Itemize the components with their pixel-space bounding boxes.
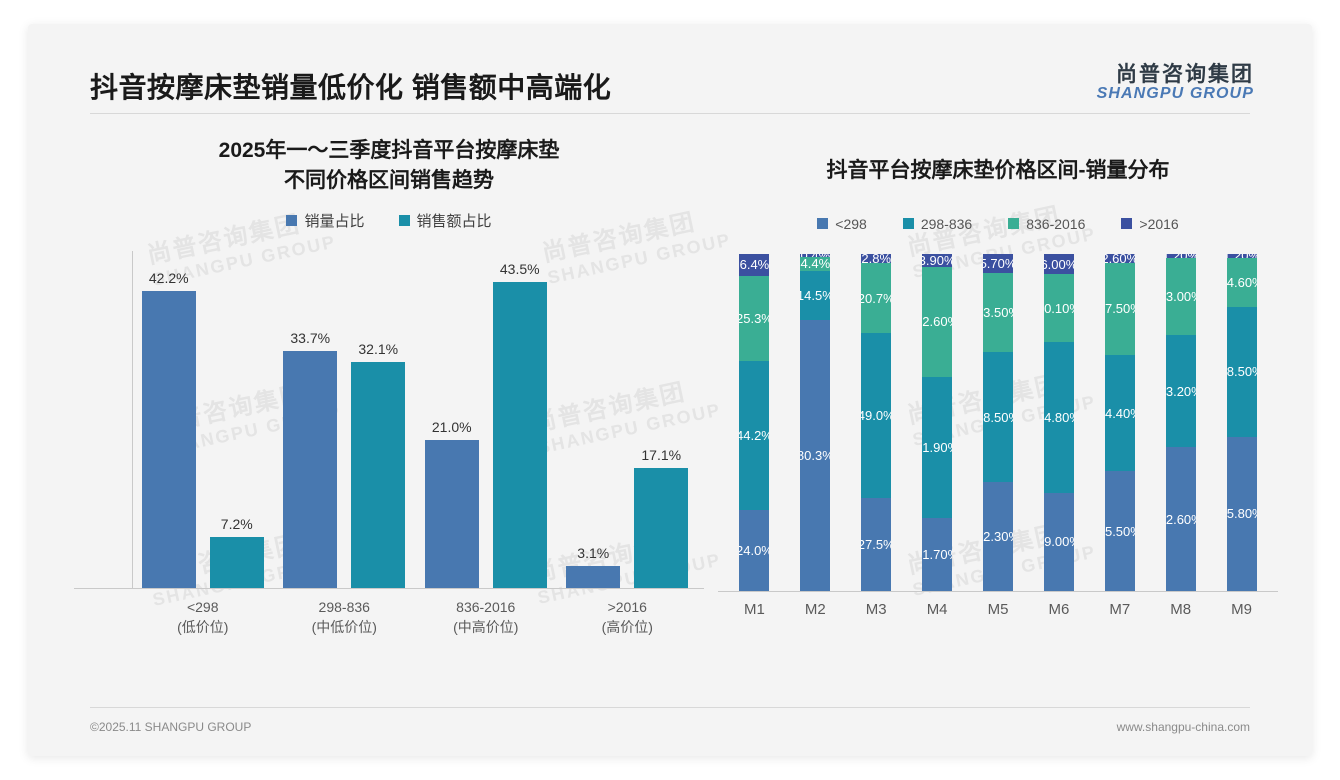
legend-swatch-icon — [903, 218, 914, 229]
header-divider — [90, 113, 1250, 114]
stack-column: 6.4% 25.3% 44.2% 24.0% — [724, 254, 785, 591]
x-axis-label-main: <298 — [187, 599, 219, 615]
x-axis-label: >2016 (高价位) — [557, 598, 699, 638]
stack-segment[interactable]: 38.50% — [983, 352, 1013, 482]
table-row[interactable] — [142, 291, 196, 587]
legend-item-298-836[interactable]: 298-836 — [903, 216, 972, 232]
stack-segment-label: 23.00% — [1166, 289, 1196, 304]
slide-header: 抖音按摩床垫销量低价化 销售额中高端化 尚普咨询集团 SHANGPU GROUP — [28, 24, 1312, 114]
x-axis-label-sub: (低价位) — [132, 618, 274, 638]
stack-segment-label: 6.00% — [1044, 257, 1074, 272]
x-axis-label-main: >2016 — [608, 599, 647, 615]
stacked-bar[interactable]: 2.60% 27.50% 34.40% 35.50% — [1105, 254, 1135, 591]
x-axis-label: M5 — [968, 601, 1029, 618]
stacked-bar[interactable]: 1.20% 14.60% 38.50% 45.80% — [1227, 254, 1257, 591]
stack-segment[interactable]: 14.5% — [800, 271, 830, 320]
stack-segment-label: 3.90% — [922, 254, 952, 267]
stacked-bar[interactable]: 5.70% 23.50% 38.50% 32.30% — [983, 254, 1013, 591]
stack-segment[interactable]: 14.60% — [1227, 258, 1257, 307]
left-chart-x-axis-labels: <298 (低价位) 298-836 (中低价位) 836-2016 (中高价位… — [132, 598, 698, 638]
stack-segment-label: 33.20% — [1166, 384, 1196, 399]
stack-segment-label: 2.60% — [1105, 254, 1135, 263]
legend-item-over-2016[interactable]: >2016 — [1121, 216, 1178, 232]
legend-label: 销量占比 — [304, 210, 364, 231]
stack-segment[interactable]: 34.40% — [1105, 355, 1135, 471]
legend-item-836-2016[interactable]: 836-2016 — [1008, 216, 1085, 232]
x-axis-label-main: 298-836 — [319, 599, 370, 615]
logo-text-cn: 尚普咨询集团 — [1097, 64, 1254, 86]
bar-wrapper: 32.1% — [351, 251, 405, 588]
stack-segment-label: 14.5% — [800, 288, 830, 303]
stack-segment[interactable]: 44.2% — [739, 361, 769, 510]
left-chart-title: 2025年一～三季度抖音平台按摩床垫 不同价格区间销售趋势 — [74, 136, 704, 196]
left-chart-title-line2: 不同价格区间销售趋势 — [74, 166, 704, 196]
stack-column: 0.4% 4.4% 14.5% 80.3% — [785, 254, 846, 591]
table-row[interactable] — [566, 566, 620, 588]
stack-segment[interactable]: 29.00% — [1044, 493, 1074, 591]
stack-segment[interactable]: 27.50% — [1105, 263, 1135, 356]
bar-value-label: 43.5% — [500, 261, 540, 277]
slide-canvas: 尚普咨询集团 SHANGPU GROUP 尚普咨询集团 SHANGPU GROU… — [28, 24, 1312, 756]
stack-column: 6.00% 20.10% 44.80% 29.00% — [1028, 254, 1089, 591]
stacked-bar[interactable]: 3.90% 32.60% 41.90% 21.70% — [922, 254, 952, 591]
left-chart-title-line1: 2025年一～三季度抖音平台按摩床垫 — [74, 136, 704, 166]
legend-swatch-icon — [1121, 218, 1132, 229]
x-axis-label: 298-836 (中低价位) — [274, 598, 416, 638]
bar-wrapper: 21.0% — [425, 251, 479, 588]
right-chart-title-line1: 抖音平台按摩床垫价格区间-销量分布 — [718, 156, 1278, 186]
stack-segment[interactable]: 35.50% — [1105, 471, 1135, 591]
stack-segment-label: 20.10% — [1044, 301, 1074, 316]
bar-wrapper: 43.5% — [493, 251, 547, 588]
legend-label: 销售额占比 — [417, 210, 492, 231]
legend-label: >2016 — [1139, 216, 1178, 232]
stack-segment[interactable]: 41.90% — [922, 377, 952, 518]
stack-segment[interactable]: 20.10% — [1044, 274, 1074, 342]
stack-segment[interactable]: 5.70% — [983, 254, 1013, 273]
stacked-bar[interactable]: 1.20% 23.00% 33.20% 42.60% — [1166, 254, 1196, 591]
legend-label: 836-2016 — [1026, 216, 1085, 232]
stack-segment-label: 6.4% — [740, 257, 770, 272]
stack-column: 3.90% 32.60% 41.90% 21.70% — [907, 254, 968, 591]
x-axis-label: M4 — [907, 601, 968, 618]
stacked-bar[interactable]: 6.00% 20.10% 44.80% 29.00% — [1044, 254, 1074, 591]
x-axis-label-main: 836-2016 — [456, 599, 515, 615]
legend-item-sales-value[interactable]: 销售额占比 — [399, 210, 492, 231]
legend-label: 298-836 — [921, 216, 972, 232]
left-chart-plot: 42.2% 7.2% 33.7% 32.1% — [74, 251, 704, 589]
stack-segment-label: 4.4% — [801, 257, 831, 272]
stack-segment-label: 24.0% — [739, 543, 769, 558]
right-chart-panel: 抖音平台按摩床垫价格区间-销量分布 <298 298-836 836-2016 … — [718, 136, 1278, 618]
stacked-bar-columns: 6.4% 25.3% 44.2% 24.0% 0.4% — [724, 254, 1272, 591]
bar-value-label: 32.1% — [358, 341, 398, 357]
stack-segment-label: 29.00% — [1044, 534, 1074, 549]
stack-segment-label: 14.60% — [1227, 275, 1257, 290]
stack-segment[interactable]: 25.3% — [739, 276, 769, 361]
stack-segment-label: 5.70% — [983, 256, 1013, 271]
stack-segment[interactable]: 4.4% — [800, 257, 830, 272]
stack-segment[interactable]: 23.00% — [1166, 258, 1196, 336]
legend-item-sales-volume[interactable]: 销量占比 — [286, 210, 364, 231]
bar-group: 21.0% 43.5% — [415, 251, 557, 588]
bar-wrapper: 3.1% — [566, 251, 620, 588]
x-axis-label-sub: (中高价位) — [415, 618, 557, 638]
x-axis-label: M8 — [1150, 601, 1211, 618]
stack-segment[interactable]: 20.7% — [861, 263, 891, 333]
bar-wrapper: 33.7% — [283, 251, 337, 588]
stack-column: 2.8% 20.7% 49.0% 27.5% — [846, 254, 907, 591]
legend-swatch-icon — [286, 215, 297, 226]
stack-segment-label: 41.90% — [922, 440, 952, 455]
stack-segment[interactable]: 6.4% — [739, 254, 769, 276]
legend-label: <298 — [835, 216, 867, 232]
stack-column: 2.60% 27.50% 34.40% 35.50% — [1089, 254, 1150, 591]
legend-item-under-298[interactable]: <298 — [817, 216, 867, 232]
bar-group: 42.2% 7.2% — [132, 251, 274, 588]
stack-segment[interactable]: 27.5% — [861, 498, 891, 591]
stacked-bar[interactable]: 6.4% 25.3% 44.2% 24.0% — [739, 254, 769, 591]
stack-segment-label: 27.50% — [1105, 301, 1135, 316]
stack-segment[interactable]: 6.00% — [1044, 254, 1074, 274]
stack-segment[interactable]: 24.0% — [739, 510, 769, 591]
stack-segment[interactable]: 32.30% — [983, 482, 1013, 591]
table-row[interactable] — [425, 440, 479, 588]
bar-value-label: 21.0% — [432, 419, 472, 435]
stack-segment-label: 45.80% — [1227, 506, 1257, 521]
stack-segment-label: 25.3% — [739, 311, 769, 326]
stack-segment-label: 32.60% — [922, 314, 952, 329]
footer-copyright: ©2025.11 SHANGPU GROUP — [90, 720, 251, 734]
bar-value-label: 33.7% — [290, 330, 330, 346]
stack-segment[interactable]: 45.80% — [1227, 437, 1257, 591]
bar-value-label: 42.2% — [149, 270, 189, 286]
table-row[interactable] — [351, 362, 405, 587]
right-chart-legend: <298 298-836 836-2016 >2016 — [718, 216, 1278, 232]
stack-segment[interactable]: 32.60% — [922, 267, 952, 377]
stack-segment[interactable]: 23.50% — [983, 273, 1013, 352]
stack-segment[interactable]: 33.20% — [1166, 335, 1196, 447]
stack-column: 1.20% 23.00% 33.20% 42.60% — [1150, 254, 1211, 591]
stack-segment-label: 32.30% — [983, 529, 1013, 544]
bar-wrapper: 7.2% — [210, 251, 264, 588]
left-chart-panel: 2025年一～三季度抖音平台按摩床垫 不同价格区间销售趋势 销量占比 销售额占比… — [74, 136, 704, 637]
stack-segment[interactable]: 3.90% — [922, 254, 952, 267]
table-row[interactable] — [634, 468, 688, 588]
footer-divider — [90, 707, 1250, 708]
x-axis-label: M9 — [1211, 601, 1272, 618]
x-axis-label-sub: (中低价位) — [274, 618, 416, 638]
stack-segment[interactable]: 21.70% — [922, 518, 952, 591]
stack-segment-label: 38.50% — [983, 410, 1013, 425]
stack-segment-label: 20.7% — [861, 291, 891, 306]
stack-segment-label: 27.5% — [861, 537, 891, 552]
stack-segment-label: 35.50% — [1105, 524, 1135, 539]
x-axis-label: 836-2016 (中高价位) — [415, 598, 557, 638]
stack-segment-label: 21.70% — [922, 547, 952, 562]
x-axis-label: M1 — [724, 601, 785, 618]
stack-segment[interactable]: 44.80% — [1044, 342, 1074, 493]
stack-segment-label: 38.50% — [1227, 364, 1257, 379]
x-axis-label: M2 — [785, 601, 846, 618]
bar-value-label: 7.2% — [221, 516, 253, 532]
stack-column: 5.70% 23.50% 38.50% 32.30% — [968, 254, 1029, 591]
stack-segment[interactable]: 2.8% — [861, 254, 891, 263]
stack-segment-label: 23.50% — [983, 305, 1013, 320]
table-row[interactable] — [210, 537, 264, 588]
stack-segment-label: 42.60% — [1166, 512, 1196, 527]
stack-segment[interactable]: 2.60% — [1105, 254, 1135, 263]
stack-segment-label: 44.2% — [739, 428, 769, 443]
right-chart-plot: 6.4% 25.3% 44.2% 24.0% 0.4% — [718, 254, 1278, 592]
stack-segment[interactable]: 38.50% — [1227, 307, 1257, 437]
bar-value-label: 17.1% — [641, 447, 681, 463]
bar-wrapper: 42.2% — [142, 251, 196, 588]
x-axis-label: M7 — [1089, 601, 1150, 618]
bar-groups: 42.2% 7.2% 33.7% 32.1% — [132, 251, 698, 588]
bar-wrapper: 17.1% — [634, 251, 688, 588]
legend-swatch-icon — [1008, 218, 1019, 229]
stack-segment[interactable]: 42.60% — [1166, 447, 1196, 591]
stack-segment-label: 34.40% — [1105, 406, 1135, 421]
x-axis-label: <298 (低价位) — [132, 598, 274, 638]
bar-group: 3.1% 17.1% — [557, 251, 699, 588]
table-row[interactable] — [493, 282, 547, 587]
x-axis-label-sub: (高价位) — [557, 618, 699, 638]
table-row[interactable] — [283, 351, 337, 588]
logo-text-en: SHANGPU GROUP — [1097, 86, 1254, 103]
x-axis-label: M6 — [1028, 601, 1089, 618]
bar-value-label: 3.1% — [577, 545, 609, 561]
stack-segment[interactable]: 80.3% — [800, 320, 830, 591]
stack-segment-label: 49.0% — [861, 408, 891, 423]
stack-segment[interactable]: 49.0% — [861, 333, 891, 498]
stack-segment-label: 2.8% — [861, 254, 891, 263]
legend-swatch-icon — [399, 215, 410, 226]
stack-segment-label: 80.3% — [800, 448, 830, 463]
footer-website[interactable]: www.shangpu-china.com — [1117, 720, 1250, 734]
bar-group: 33.7% 32.1% — [274, 251, 416, 588]
left-chart-legend: 销量占比 销售额占比 — [74, 210, 704, 231]
page-title: 抖音按摩床垫销量低价化 销售额中高端化 — [90, 66, 611, 106]
stack-segment-label: 44.80% — [1044, 410, 1074, 425]
right-chart-title: 抖音平台按摩床垫价格区间-销量分布 — [718, 136, 1278, 186]
x-axis-label: M3 — [846, 601, 907, 618]
stacked-bar[interactable]: 0.4% 4.4% 14.5% 80.3% — [800, 254, 830, 591]
right-chart-x-axis-labels: M1 M2 M3 M4 M5 M6 M7 M8 M9 — [724, 601, 1272, 618]
brand-logo: 尚普咨询集团 SHANGPU GROUP — [1097, 64, 1254, 103]
legend-swatch-icon — [817, 218, 828, 229]
stack-column: 1.20% 14.60% 38.50% 45.80% — [1211, 254, 1272, 591]
stacked-bar[interactable]: 2.8% 20.7% 49.0% 27.5% — [861, 254, 891, 591]
